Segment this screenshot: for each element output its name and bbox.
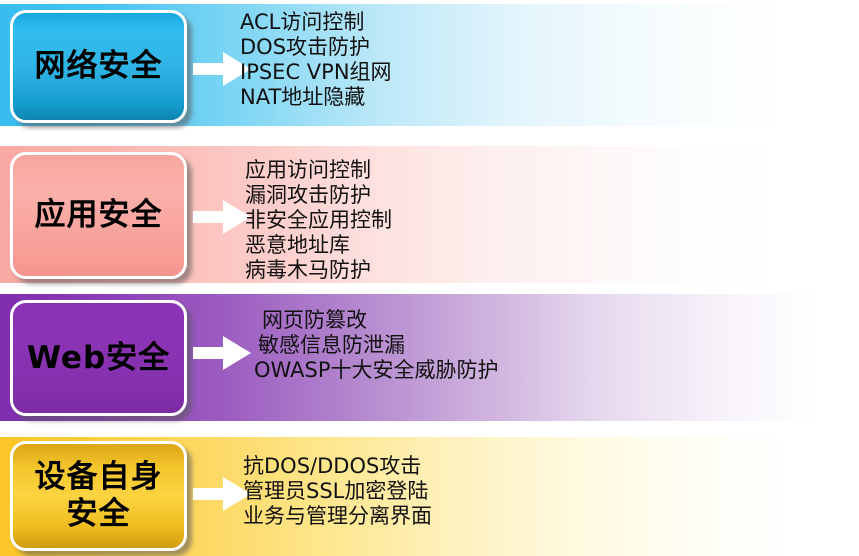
diagram-row-network-security: 网络安全 ACL访问控制 DOS攻击防护 IPSEC VPN组网 NAT地址隐藏: [0, 4, 859, 126]
category-label-network-security: 网络安全: [35, 48, 163, 85]
list-item: NAT地址隐藏: [240, 85, 392, 110]
list-item: 漏洞攻击防护: [245, 183, 392, 208]
category-box-application-security[interactable]: 应用安全: [10, 152, 187, 279]
feature-list-device-self-security: 抗DOS/DDOS攻击 管理员SSL加密登陆 业务与管理分离界面: [243, 454, 432, 529]
list-item: 病毒木马防护: [245, 258, 392, 283]
list-item: 管理员SSL加密登陆: [243, 479, 432, 504]
list-item: 恶意地址库: [245, 233, 392, 258]
category-box-network-security[interactable]: 网络安全: [10, 10, 187, 123]
category-label-device-self-security: 设备自身 安全: [35, 459, 163, 532]
list-item: 敏感信息防泄漏: [258, 333, 499, 358]
right-arrow-icon: [193, 200, 251, 234]
diagram-row-web-security: Web安全 网页防篡改 敏感信息防泄漏 OWASP十大安全威胁防护: [0, 294, 859, 421]
list-item: IPSEC VPN组网: [240, 60, 392, 85]
feature-list-network-security: ACL访问控制 DOS攻击防护 IPSEC VPN组网 NAT地址隐藏: [240, 10, 392, 110]
feature-list-web-security: 网页防篡改 敏感信息防泄漏 OWASP十大安全威胁防护: [258, 308, 499, 383]
list-item: 非安全应用控制: [245, 208, 392, 233]
category-box-web-security[interactable]: Web安全: [10, 300, 187, 416]
feature-list-application-security: 应用访问控制 漏洞攻击防护 非安全应用控制 恶意地址库 病毒木马防护: [245, 158, 392, 283]
list-item: 抗DOS/DDOS攻击: [243, 454, 432, 479]
list-item: 应用访问控制: [245, 158, 392, 183]
list-item: OWASP十大安全威胁防护: [254, 358, 499, 383]
list-item: DOS攻击防护: [240, 35, 392, 60]
security-capability-diagram: 网络安全 ACL访问控制 DOS攻击防护 IPSEC VPN组网 NAT地址隐藏…: [0, 0, 859, 556]
list-item: 业务与管理分离界面: [243, 504, 432, 529]
right-arrow-icon: [193, 336, 251, 370]
list-item: 网页防篡改: [262, 308, 499, 333]
category-label-application-security: 应用安全: [35, 197, 163, 234]
diagram-row-application-security: 应用安全 应用访问控制 漏洞攻击防护 非安全应用控制 恶意地址库 病毒木马防护: [0, 146, 859, 283]
category-label-web-security: Web安全: [27, 340, 170, 377]
category-box-device-self-security[interactable]: 设备自身 安全: [10, 441, 187, 551]
diagram-row-device-self-security: 设备自身 安全 抗DOS/DDOS攻击 管理员SSL加密登陆 业务与管理分离界面: [0, 437, 859, 556]
list-item: ACL访问控制: [240, 10, 392, 35]
